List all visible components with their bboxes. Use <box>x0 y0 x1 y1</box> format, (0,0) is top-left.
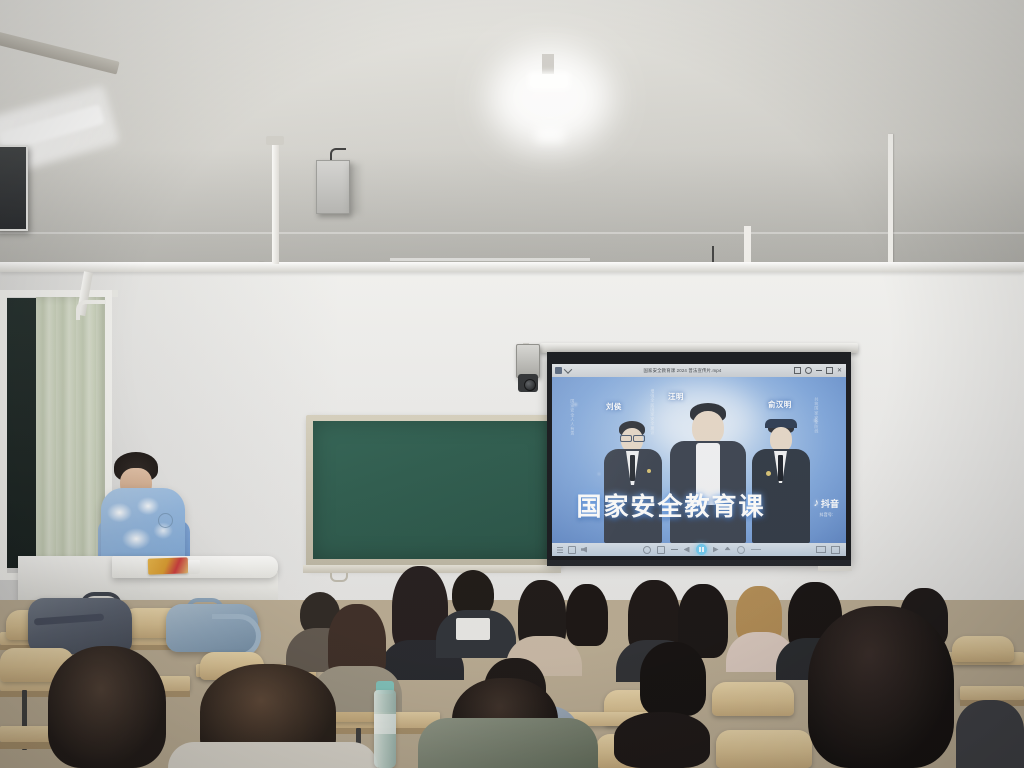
screen-glare <box>552 364 846 556</box>
ceiling-lamp-flare <box>536 126 564 142</box>
ceiling-lamp-stem <box>542 54 554 74</box>
wall-speaker-middle-shadow <box>348 164 360 214</box>
student-shirt-print <box>456 618 490 640</box>
student-shoulders <box>418 718 598 768</box>
wall-speaker-middle <box>316 160 350 214</box>
classroom-photo: 国家安全教育课 2024 普法宣传片.mp4 ✕ 国家安全人人有责 增强全民国家… <box>0 0 1024 768</box>
student-head-foreground <box>614 712 710 768</box>
bottle-label <box>374 714 396 734</box>
chair-back <box>952 636 1014 662</box>
cup-on-lectern <box>188 560 200 574</box>
sweatshirt-logo-icon <box>158 513 173 528</box>
projection-screen-weight <box>818 566 852 571</box>
desk-row <box>960 686 1024 700</box>
chalkboard <box>313 421 551 559</box>
window-frame <box>0 290 112 580</box>
student-head-foreground <box>48 646 166 768</box>
wall-pipe-elbow <box>76 300 106 320</box>
wall-molding <box>0 262 1024 272</box>
camera-housing <box>516 344 540 378</box>
student-shoulders <box>956 700 1024 768</box>
student-head <box>640 642 706 716</box>
projection-screen-bottom-bar <box>547 560 851 566</box>
chalkboard-hook <box>330 573 348 582</box>
student-head-foreground <box>808 606 954 768</box>
chair-back <box>716 730 812 768</box>
ceiling-drop-rod <box>272 140 279 264</box>
ceiling-drop-rod-cap <box>266 136 284 145</box>
camera-lens-icon <box>524 379 536 391</box>
student-shoulders <box>168 742 378 768</box>
papers-on-lectern <box>148 557 189 574</box>
ceiling-seam <box>0 232 1024 234</box>
student-head <box>566 584 608 646</box>
ceiling-seam-2 <box>390 258 590 261</box>
ceiling-lamp-bulb <box>528 72 570 90</box>
ceiling-shading <box>0 150 1024 270</box>
chair-back <box>712 682 794 716</box>
wall-speaker-left <box>0 145 28 231</box>
